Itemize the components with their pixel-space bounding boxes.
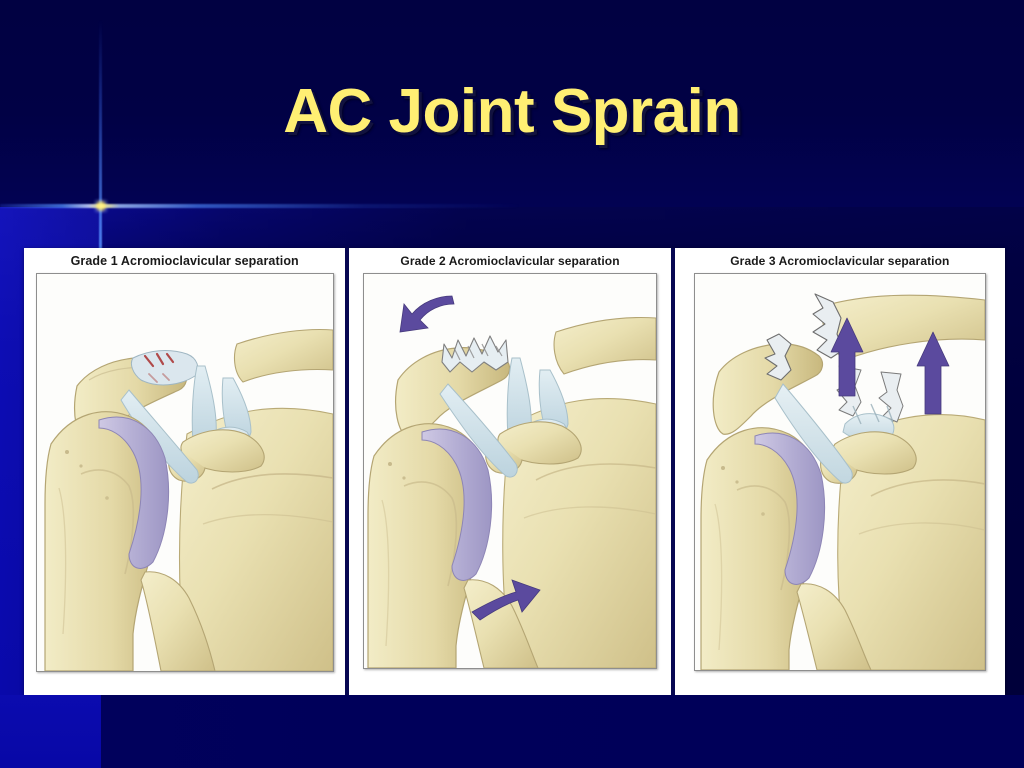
bottom-strip-left-accent [0, 695, 101, 768]
figure-container: Grade 1 Acromioclavicular separation [24, 248, 1005, 695]
slide-root: AC Joint Sprain Grade 1 Acromioclavicula… [0, 0, 1024, 768]
figure-panel-grade-3: Grade 3 Acromioclavicular separation [675, 248, 1005, 695]
illustration-frame-grade-3 [694, 273, 986, 671]
page-title: AC Joint Sprain [0, 76, 1024, 147]
bottom-background-strip [0, 695, 1024, 768]
panel-label-grade-2: Grade 2 Acromioclavicular separation [400, 254, 619, 268]
shoulder-anatomy-grade-2-illustration [364, 274, 656, 668]
shoulder-anatomy-grade-3-illustration [695, 274, 985, 670]
illustration-frame-grade-1 [36, 273, 334, 672]
figure-panel-grade-2: Grade 2 Acromioclavicular separation [349, 248, 670, 695]
panel-label-grade-3: Grade 3 Acromioclavicular separation [730, 254, 949, 268]
shoulder-anatomy-grade-1-illustration [37, 274, 333, 671]
acromioclavicular-joint [131, 351, 197, 385]
panel-label-grade-1: Grade 1 Acromioclavicular separation [71, 254, 299, 268]
figure-panel-grade-1: Grade 1 Acromioclavicular separation [24, 248, 345, 695]
illustration-frame-grade-2 [363, 273, 657, 669]
bottom-strip-right [101, 695, 1024, 768]
